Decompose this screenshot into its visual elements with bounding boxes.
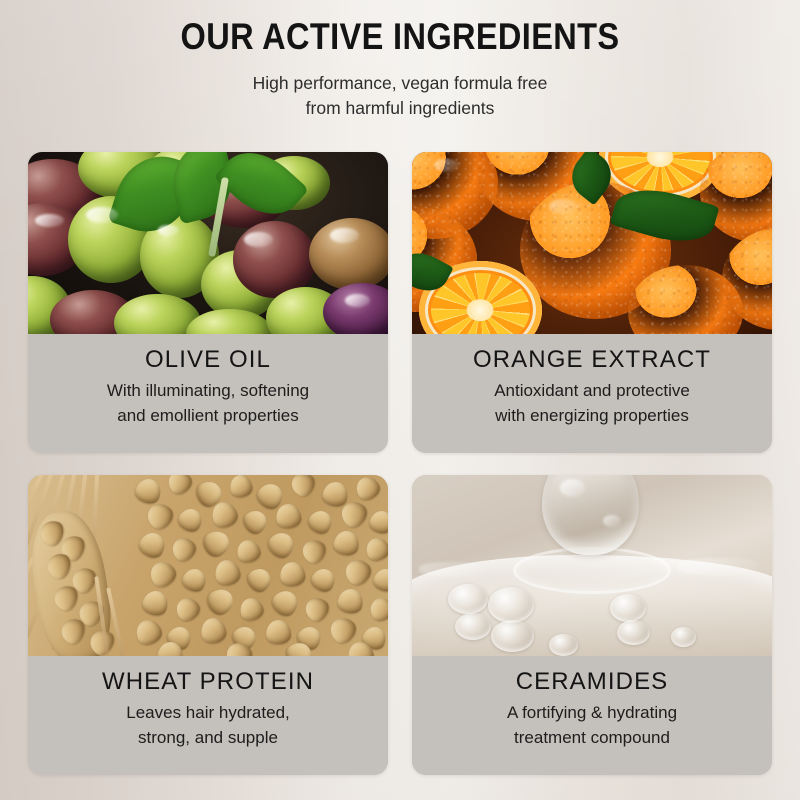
subtitle-line-1: High performance, vegan formula free — [0, 71, 800, 96]
description-line-1: Leaves hair hydrated, — [28, 700, 388, 725]
card-caption: ORANGE EXTRACT Antioxidant and protectiv… — [412, 334, 772, 453]
ingredient-name: OLIVE OIL — [28, 345, 388, 375]
ingredient-card-olive-oil[interactable]: OLIVE OIL With illuminating, softening a… — [28, 152, 388, 453]
page-title: OUR ACTIVE INGREDIENTS — [48, 18, 752, 57]
ingredient-name: ORANGE EXTRACT — [412, 345, 772, 375]
description-line-2: and emollient properties — [28, 403, 388, 428]
card-caption: WHEAT PROTEIN Leaves hair hydrated, stro… — [28, 656, 388, 775]
ingredients-infographic: OUR ACTIVE INGREDIENTS High performance,… — [0, 0, 800, 800]
oranges-whole-and-halved-photo — [412, 152, 772, 334]
ingredient-card-wheat-protein[interactable]: WHEAT PROTEIN Leaves hair hydrated, stro… — [28, 475, 388, 775]
ingredient-description: With illuminating, softening and emollie… — [28, 378, 388, 428]
card-caption: CERAMIDES A fortifying & hydrating treat… — [412, 656, 772, 775]
description-line-2: with energizing properties — [412, 403, 772, 428]
description-line-2: strong, and supple — [28, 725, 388, 750]
wheat-grains-and-stalk-photo — [28, 475, 388, 656]
description-line-1: With illuminating, softening — [28, 378, 388, 403]
description-line-1: A fortifying & hydrating — [412, 700, 772, 725]
olives-and-leaves-photo — [28, 152, 388, 334]
description-line-2: treatment compound — [412, 725, 772, 750]
ingredient-description: Antioxidant and protective with energizi… — [412, 378, 772, 428]
header: OUR ACTIVE INGREDIENTS High performance,… — [0, 18, 800, 122]
subtitle-line-2: from harmful ingredients — [0, 96, 800, 121]
page-subtitle: High performance, vegan formula free fro… — [0, 71, 800, 122]
ingredient-description: Leaves hair hydrated, strong, and supple — [28, 700, 388, 750]
card-caption: OLIVE OIL With illuminating, softening a… — [28, 334, 388, 453]
ingredient-description: A fortifying & hydrating treatment compo… — [412, 700, 772, 750]
ingredient-card-orange-extract[interactable]: ORANGE EXTRACT Antioxidant and protectiv… — [412, 152, 772, 453]
ingredient-name: WHEAT PROTEIN — [28, 667, 388, 697]
description-line-1: Antioxidant and protective — [412, 378, 772, 403]
ingredient-card-ceramides[interactable]: CERAMIDES A fortifying & hydrating treat… — [412, 475, 772, 775]
ingredient-card-grid: OLIVE OIL With illuminating, softening a… — [28, 152, 772, 775]
clear-gel-droplet-photo — [412, 475, 772, 656]
ingredient-name: CERAMIDES — [412, 667, 772, 697]
